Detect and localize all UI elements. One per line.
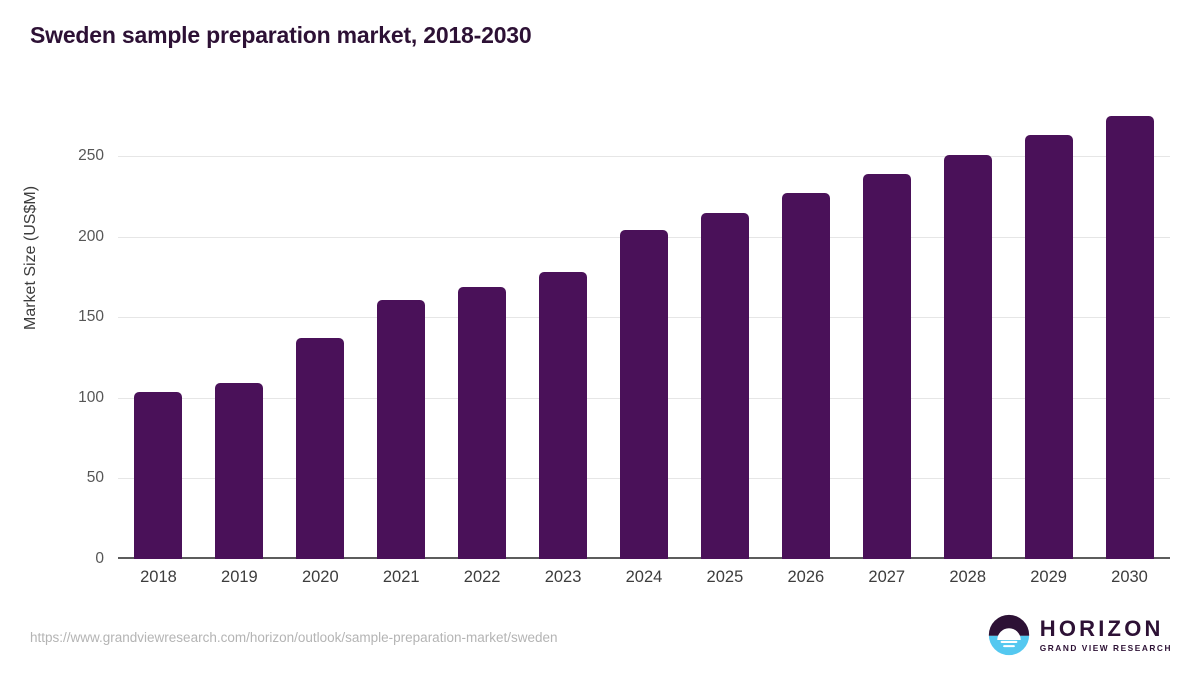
bar-slot — [846, 100, 927, 559]
x-axis-tick-label: 2025 — [684, 568, 765, 587]
horizon-logo[interactable]: HORIZON GRAND VIEW RESEARCH — [988, 614, 1172, 656]
horizon-sunrise-circle-icon — [988, 614, 1030, 656]
bar[interactable] — [1025, 135, 1073, 559]
bar[interactable] — [863, 174, 911, 559]
y-axis-tick-label: 0 — [95, 550, 104, 568]
x-axis-tick-label: 2023 — [523, 568, 604, 587]
x-axis-tick-label: 2022 — [442, 568, 523, 587]
y-axis-title: Market Size (US$M) — [22, 186, 40, 330]
x-axis-tick-label: 2027 — [846, 568, 927, 587]
bar-slot — [118, 100, 199, 559]
bar-slot — [442, 100, 523, 559]
y-axis-tick-label: 100 — [78, 389, 104, 407]
bar[interactable] — [782, 193, 830, 559]
bar-slot — [927, 100, 1008, 559]
bar[interactable] — [296, 338, 344, 559]
source-url[interactable]: https://www.grandviewresearch.com/horizo… — [30, 630, 558, 645]
bar[interactable] — [215, 383, 263, 559]
x-axis-tick-label: 2030 — [1089, 568, 1170, 587]
bar[interactable] — [539, 272, 587, 559]
plot-area: 050100150200250 201820192020202120222023… — [118, 100, 1170, 559]
x-axis-tick-label: 2019 — [199, 568, 280, 587]
bar-slot — [604, 100, 685, 559]
x-axis-tick-label: 2021 — [361, 568, 442, 587]
bar-slot — [1089, 100, 1170, 559]
bar[interactable] — [1106, 116, 1154, 559]
logo-wordmark: HORIZON — [1040, 618, 1172, 640]
bar-slot — [361, 100, 442, 559]
bar[interactable] — [701, 213, 749, 559]
bar-slot — [1008, 100, 1089, 559]
x-axis-tick-label: 2020 — [280, 568, 361, 587]
x-axis-tick-label: 2029 — [1008, 568, 1089, 587]
bar[interactable] — [134, 392, 182, 559]
x-axis-tick-label: 2026 — [765, 568, 846, 587]
bar[interactable] — [944, 155, 992, 559]
y-axis-tick-label: 200 — [78, 228, 104, 246]
chart-page: Sweden sample preparation market, 2018-2… — [0, 0, 1200, 675]
y-axis-tick-label: 150 — [78, 308, 104, 326]
x-axis-tick-label: 2018 — [118, 568, 199, 587]
bar-slot — [523, 100, 604, 559]
bar-slot — [280, 100, 361, 559]
logo-text: HORIZON GRAND VIEW RESEARCH — [1040, 618, 1172, 652]
x-axis-tick-label: 2028 — [927, 568, 1008, 587]
x-axis-tick-label: 2024 — [604, 568, 685, 587]
bar[interactable] — [458, 287, 506, 559]
y-axis-tick-label: 50 — [87, 469, 104, 487]
bar-slot — [765, 100, 846, 559]
bar-slot — [684, 100, 765, 559]
y-axis-tick-label: 250 — [78, 147, 104, 165]
bar[interactable] — [377, 300, 425, 559]
page-title: Sweden sample preparation market, 2018-2… — [30, 22, 531, 49]
logo-tagline: GRAND VIEW RESEARCH — [1040, 644, 1172, 652]
bar-slot — [199, 100, 280, 559]
bar[interactable] — [620, 230, 668, 559]
bar-series — [118, 100, 1170, 559]
